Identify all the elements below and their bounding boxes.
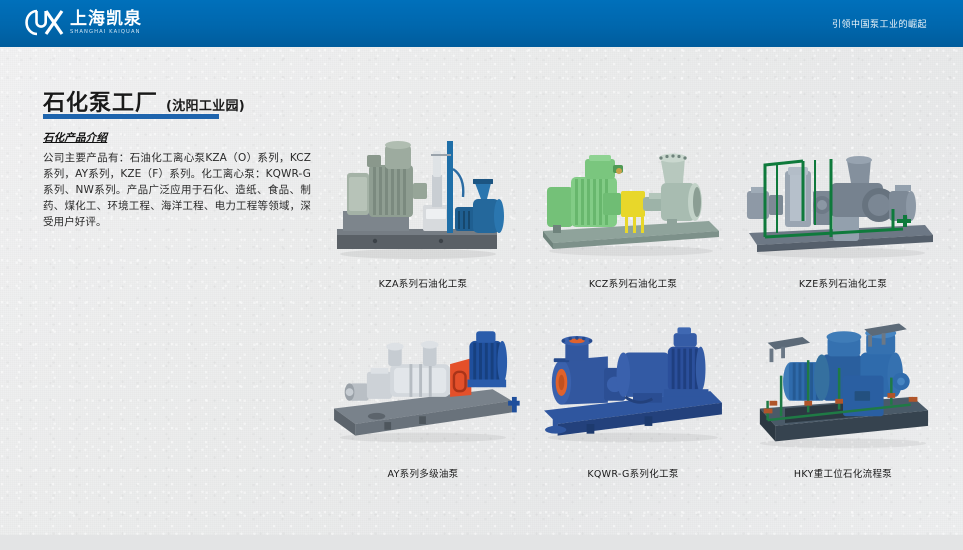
product-image-kcz bbox=[533, 125, 733, 270]
page-root: 上海凯泉 SHANGHAI KAIQUAN 引领中国泵工业的崛起 石化泵工厂 (… bbox=[0, 0, 963, 550]
product-caption-kcz: KCZ系列石油化工泵 bbox=[589, 276, 677, 290]
product-image-kze bbox=[743, 125, 943, 270]
product-card-kcz[interactable]: KCZ系列石油化工泵 bbox=[528, 110, 738, 290]
page-title-main: 石化泵工厂 bbox=[43, 85, 158, 117]
page-title-sub: (沈阳工业园) bbox=[166, 95, 245, 114]
kaiquan-logo-icon bbox=[24, 7, 64, 39]
product-card-hky[interactable]: HKY重工位石化流程泵 bbox=[738, 290, 948, 480]
product-card-kza[interactable]: KZA系列石油化工泵 bbox=[318, 110, 528, 290]
product-card-kqwrg[interactable]: KQWR-G系列化工泵 bbox=[528, 290, 738, 480]
site-header: 上海凯泉 SHANGHAI KAIQUAN 引领中国泵工业的崛起 bbox=[0, 0, 963, 47]
footer-strip bbox=[0, 535, 963, 550]
title-underline-rule bbox=[43, 114, 219, 119]
product-image-kza bbox=[323, 125, 523, 270]
header-slogan: 引领中国泵工业的崛起 bbox=[832, 0, 927, 47]
intro-body: 公司主要产品有：石油化工离心泵KZA（O）系列，KCZ系列，AY系列，KZE（F… bbox=[43, 150, 311, 230]
product-caption-kze: KZE系列石油化工泵 bbox=[799, 276, 887, 290]
header-background bbox=[0, 0, 963, 47]
product-caption-kqwrg: KQWR-G系列化工泵 bbox=[587, 466, 678, 480]
brand-logo[interactable]: 上海凯泉 SHANGHAI KAIQUAN bbox=[24, 6, 142, 40]
product-card-ay[interactable]: AY系列多级油泵 bbox=[318, 290, 528, 480]
brand-logo-text: 上海凯泉 SHANGHAI KAIQUAN bbox=[70, 11, 142, 35]
product-card-kze[interactable]: KZE系列石油化工泵 bbox=[738, 110, 948, 290]
brand-name-en: SHANGHAI KAIQUAN bbox=[70, 30, 142, 35]
product-grid: KZA系列石油化工泵 bbox=[318, 110, 948, 480]
product-caption-ay: AY系列多级油泵 bbox=[388, 466, 459, 480]
product-image-ay bbox=[323, 308, 523, 458]
page-title: 石化泵工厂 (沈阳工业园) bbox=[43, 85, 245, 117]
brand-name-cn: 上海凯泉 bbox=[70, 11, 142, 28]
product-image-kqwrg bbox=[533, 308, 733, 458]
product-caption-kza: KZA系列石油化工泵 bbox=[379, 276, 468, 290]
intro-block: 石化产品介绍 公司主要产品有：石油化工离心泵KZA（O）系列，KCZ系列，AY系… bbox=[43, 130, 311, 230]
product-image-hky bbox=[743, 308, 943, 458]
intro-heading: 石化产品介绍 bbox=[43, 130, 311, 145]
product-caption-hky: HKY重工位石化流程泵 bbox=[794, 466, 892, 480]
